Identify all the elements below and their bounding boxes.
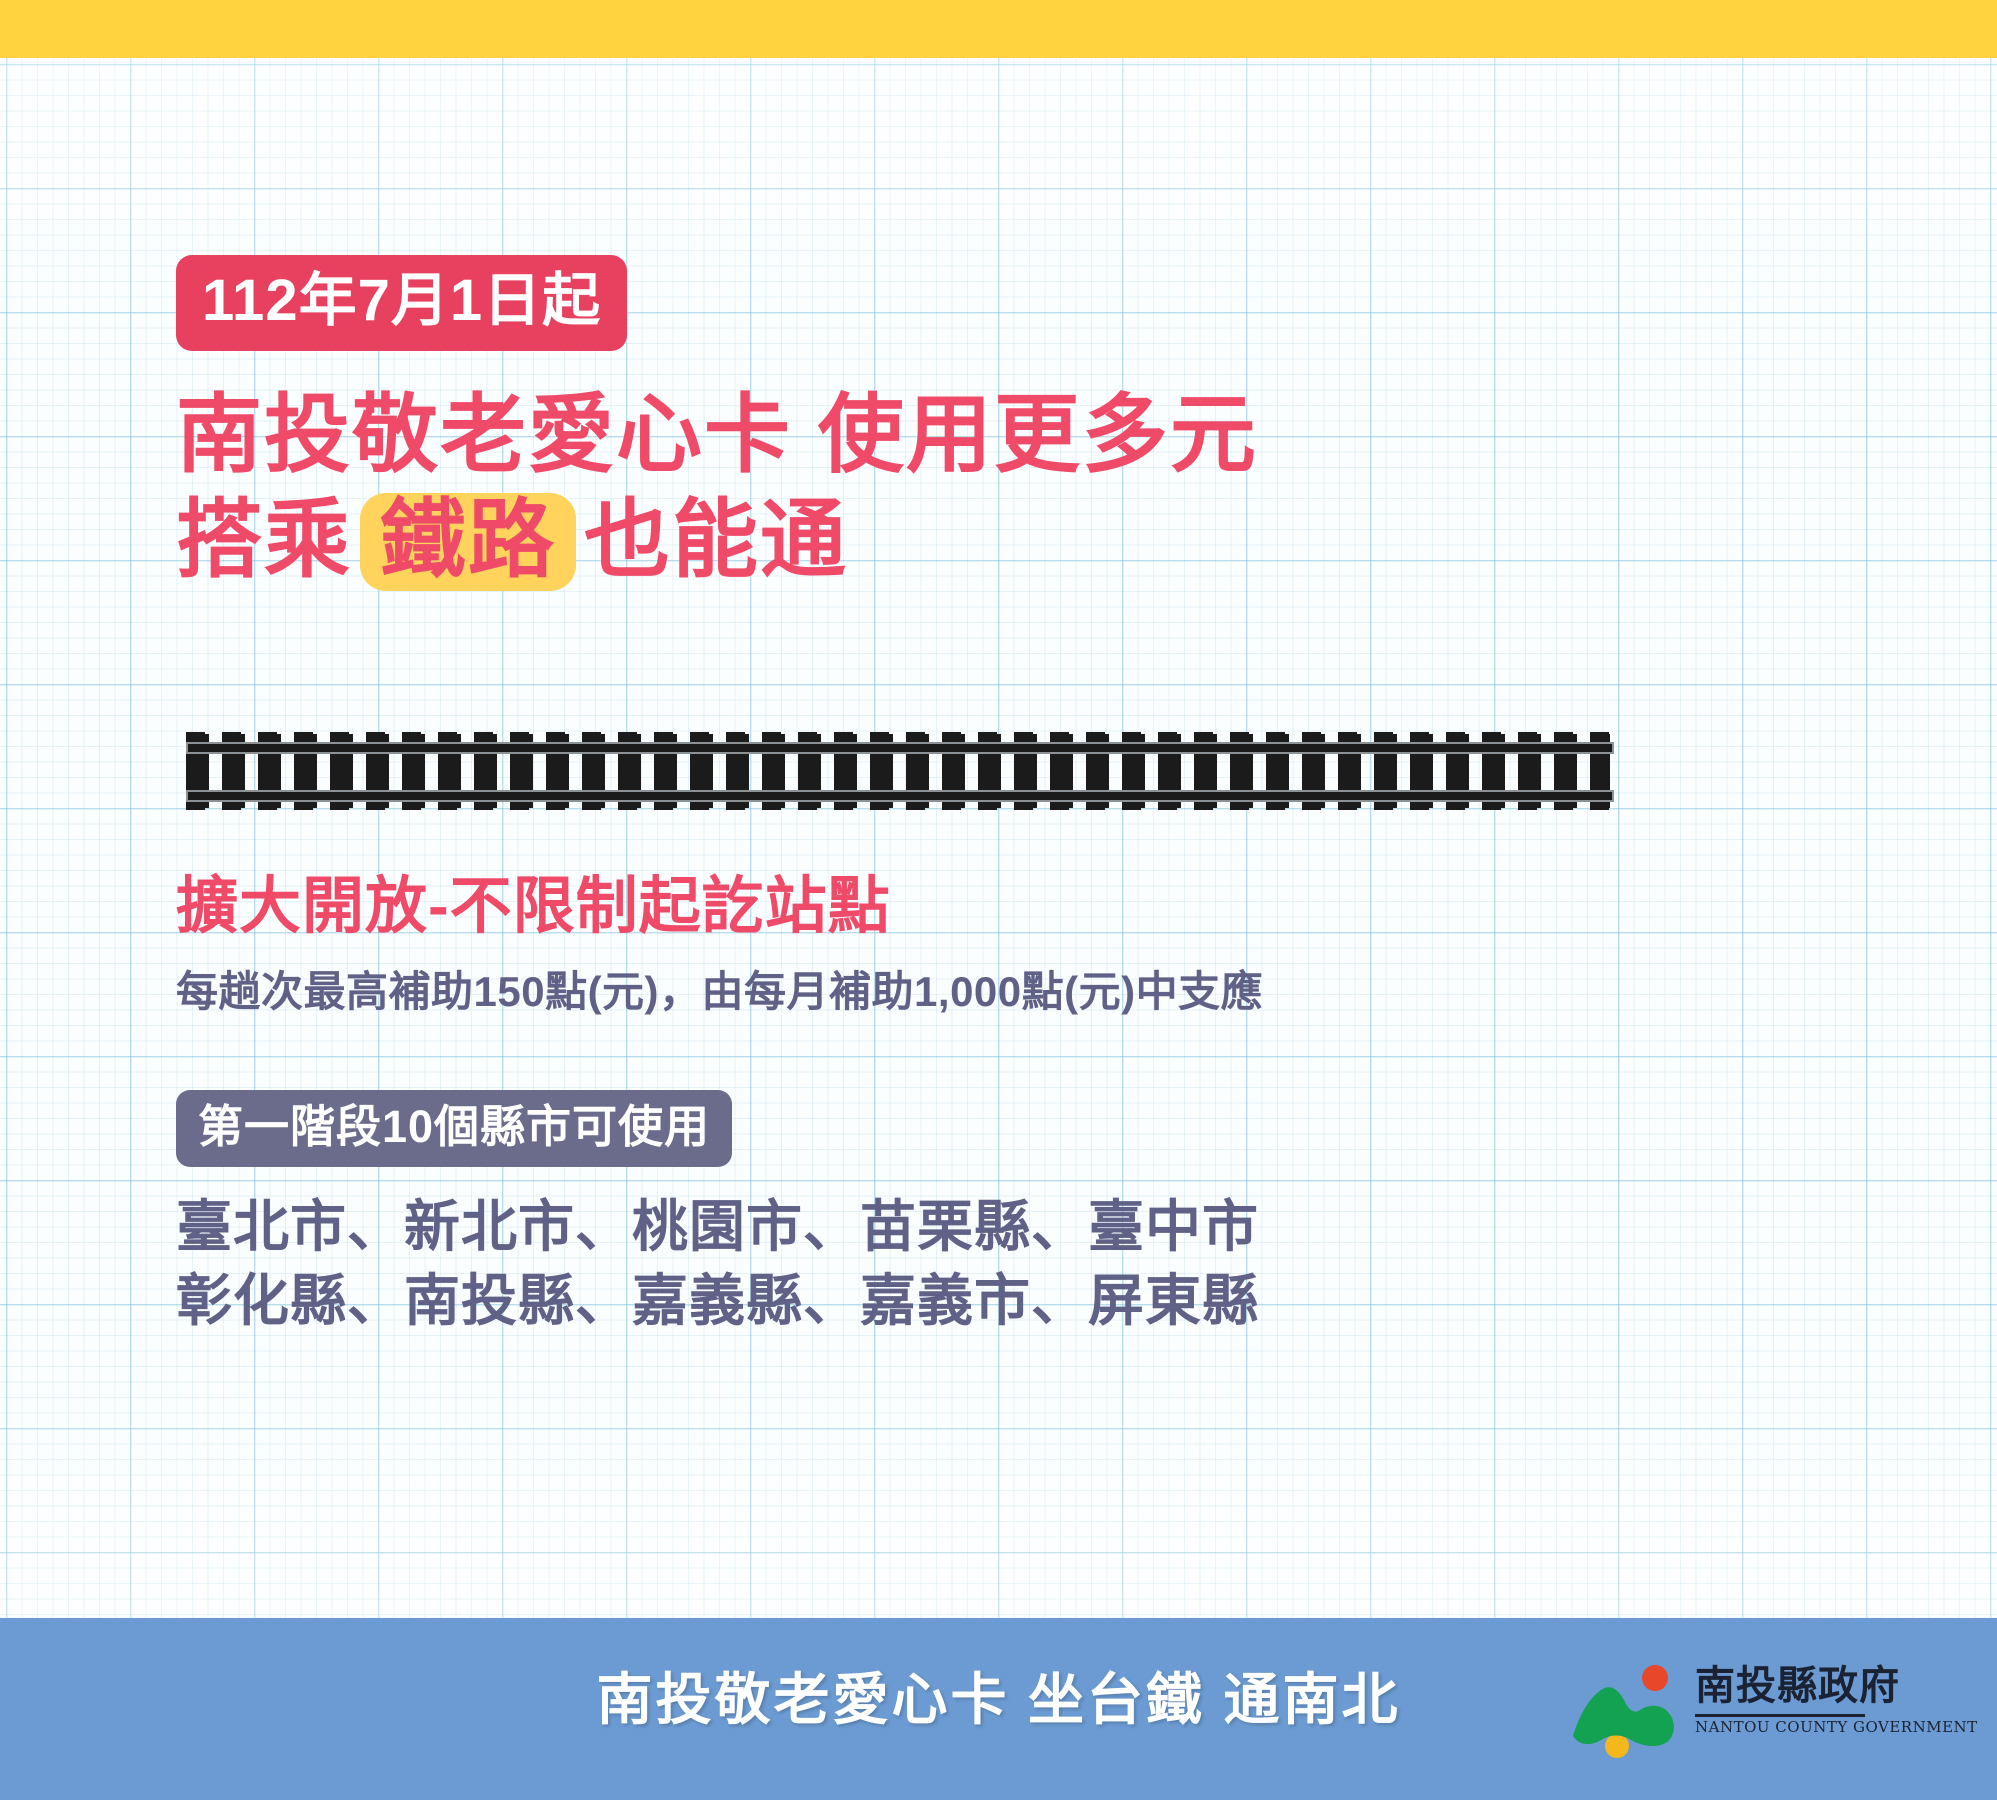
city-list: 臺北市、新北市、桃園市、苗栗縣、臺中市 彰化縣、南投縣、嘉義縣、嘉義市、屏東縣 [176, 1190, 1259, 1338]
subsidy-note: 每趟次最高補助150點(元)，由每月補助1,000點(元)中支應 [176, 971, 1263, 1013]
logo-english-name: NANTOU COUNTY GOVERNMENT [1695, 1720, 1978, 1735]
poster-root: 112年7月1日起 南投敬老愛心卡 使用更多元 搭乘鐵路也能通 [0, 0, 1997, 1800]
nantou-mountain-icon [1567, 1664, 1687, 1760]
headline-line-2-suffix: 也能通 [584, 492, 848, 588]
city-list-line-2: 彰化縣、南投縣、嘉義縣、嘉義市、屏東縣 [176, 1264, 1259, 1338]
logo-chinese-name: 南投縣政府 [1695, 1666, 1900, 1706]
track-rail-bottom [186, 790, 1614, 802]
railway-track-icon [186, 732, 1614, 810]
expand-heading: 擴大開放-不限制起訖站點 [176, 876, 891, 938]
logo-divider [1695, 1714, 1865, 1717]
headline-line-2-prefix: 搭乘 [176, 492, 352, 588]
headline: 南投敬老愛心卡 使用更多元 搭乘鐵路也能通 [176, 383, 1876, 593]
city-list-line-1: 臺北市、新北市、桃園市、苗栗縣、臺中市 [176, 1190, 1259, 1264]
headline-highlight-railway: 鐵路 [360, 493, 576, 591]
poster-content: 112年7月1日起 南投敬老愛心卡 使用更多元 搭乘鐵路也能通 [0, 58, 1997, 1618]
nantou-county-government-logo: 南投縣政府 NANTOU COUNTY GOVERNMENT [1567, 1658, 1867, 1768]
stage-badge: 第一階段10個縣市可使用 [176, 1090, 732, 1167]
top-accent-bar [0, 0, 1997, 58]
track-rail-top [186, 742, 1614, 754]
headline-line-1: 南投敬老愛心卡 使用更多元 [176, 383, 1876, 488]
effective-date-badge: 112年7月1日起 [176, 255, 627, 351]
footer-bar: 南投敬老愛心卡 坐台鐵 通南北 南投縣政府 NANTOU COUNTY GOVE… [0, 1618, 1997, 1800]
headline-line-2: 搭乘鐵路也能通 [176, 488, 1876, 593]
